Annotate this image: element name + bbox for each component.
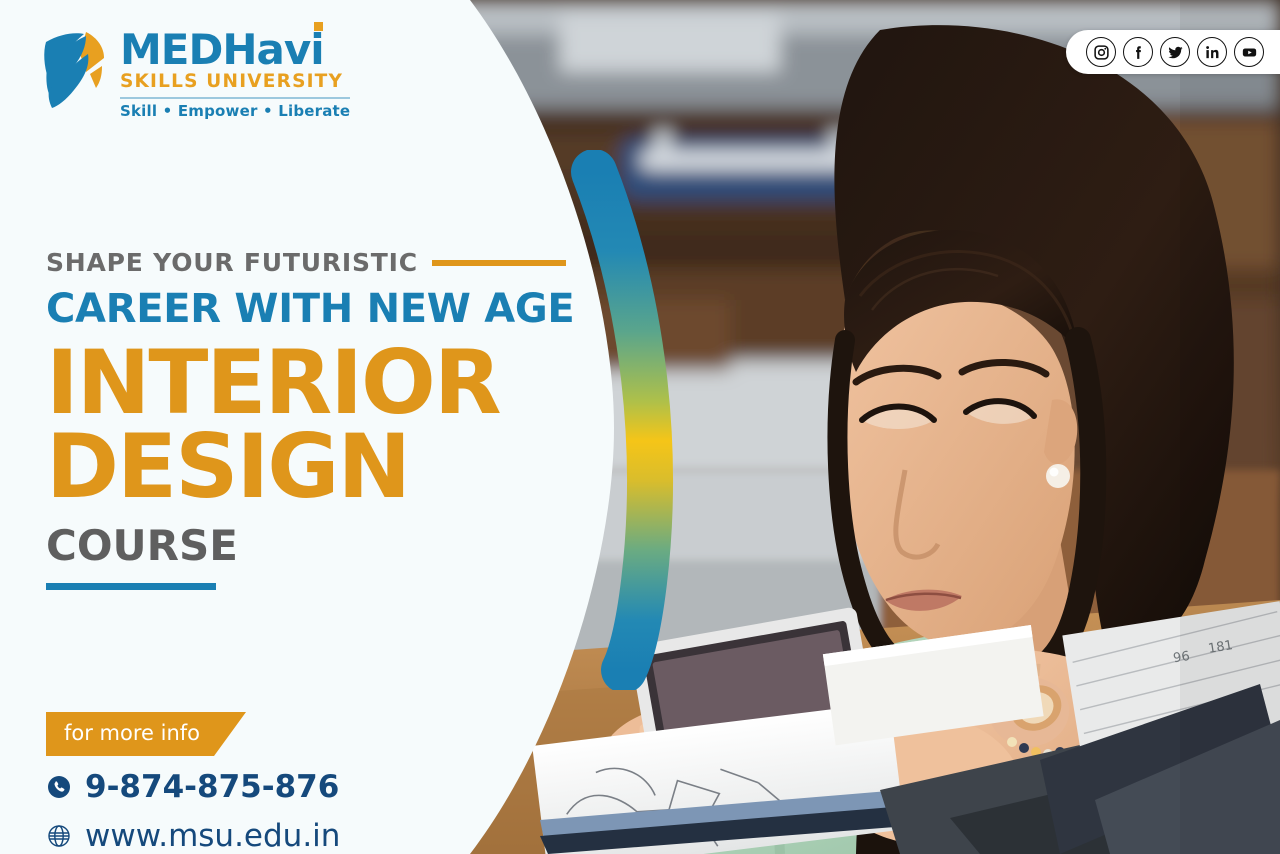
kicker-row: SHAPE YOUR FUTURISTIC xyxy=(46,248,566,277)
headline-block: SHAPE YOUR FUTURISTIC CAREER WITH NEW AG… xyxy=(46,248,566,590)
globe-icon xyxy=(46,823,72,849)
contact-block: for more info 9-874-875-876 www.msu.edu.… xyxy=(46,712,340,854)
for-more-info-badge: for more info xyxy=(46,712,246,756)
contact-website-row[interactable]: www.msu.edu.in xyxy=(46,818,340,854)
youtube-icon[interactable] xyxy=(1234,37,1264,67)
contact-phone-row[interactable]: 9-874-875-876 xyxy=(46,769,340,805)
twitter-icon[interactable] xyxy=(1160,37,1190,67)
medhavi-shield-logo-icon xyxy=(40,28,110,110)
brand-subtitle: SKILLS UNIVERSITY xyxy=(120,71,350,93)
headline-main-line-1: INTERIOR xyxy=(46,340,566,426)
linkedin-icon[interactable] xyxy=(1197,37,1227,67)
social-links-bar xyxy=(1066,30,1280,74)
brand-tagline: Skill • Empower • Liberate xyxy=(120,102,350,120)
brand-wordmark-i: i xyxy=(310,25,323,74)
promo-banner: 96 181 xyxy=(0,0,1280,854)
contact-website-url: www.msu.edu.in xyxy=(85,818,340,854)
kicker-rule xyxy=(432,260,566,266)
brand-divider xyxy=(120,97,350,99)
headline-main-line-2: DESIGN xyxy=(46,424,566,510)
headline-subline: CAREER WITH NEW AGE xyxy=(46,285,566,334)
phone-icon xyxy=(46,774,72,800)
facebook-icon[interactable] xyxy=(1123,37,1153,67)
brand-logo-text: MEDHavi SKILLS UNIVERSITY Skill • Empowe… xyxy=(120,28,350,120)
brand-wordmark: MEDHavi xyxy=(120,30,350,70)
headline-kicker: SHAPE YOUR FUTURISTIC xyxy=(46,248,418,277)
contact-phone-number: 9-874-875-876 xyxy=(85,769,339,805)
brand-logo[interactable]: MEDHavi SKILLS UNIVERSITY Skill • Empowe… xyxy=(40,28,350,120)
headline-course-label: COURSE xyxy=(46,522,566,570)
headline-underline xyxy=(46,583,216,590)
instagram-icon[interactable] xyxy=(1086,37,1116,67)
